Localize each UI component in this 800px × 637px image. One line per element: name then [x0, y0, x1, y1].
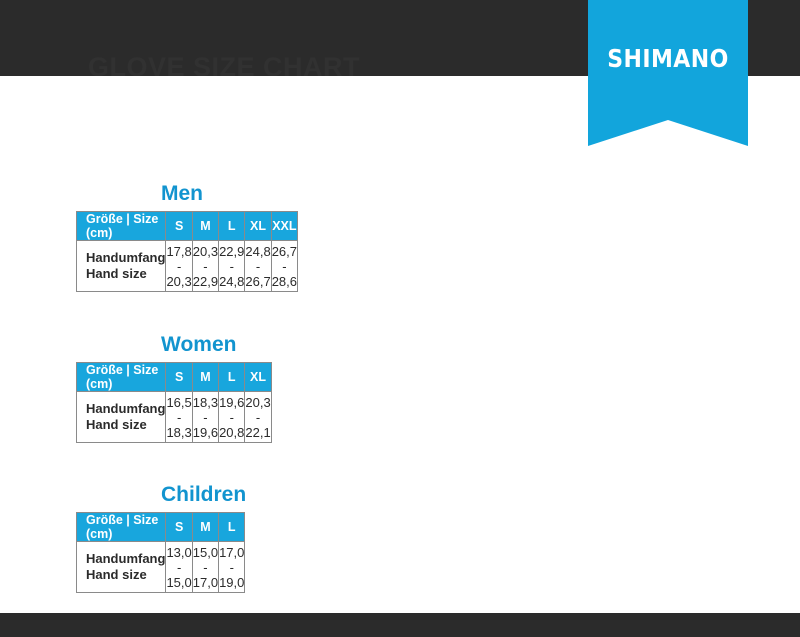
row-label-hand-size: HandumfangHand size [77, 392, 166, 443]
hand-size-value: 20,3 - 22,9 [192, 241, 218, 292]
section-title: Women [161, 333, 236, 357]
hand-size-value: 16,5 - 18,3 [166, 392, 192, 443]
column-header-size: S [166, 363, 192, 392]
column-header-size: XXL [271, 212, 297, 241]
hand-size-value: 13,0 - 15,0 [166, 542, 192, 593]
column-header-size: S [166, 212, 192, 241]
shimano-brand-ribbon: SHIMANO [588, 0, 748, 146]
row-label-line-2: Hand size [86, 266, 165, 282]
row-label-line-1: Handumfang [86, 250, 165, 266]
column-header-size: M [192, 513, 218, 542]
hand-size-value: 17,8 - 20,3 [166, 241, 192, 292]
footer-band [0, 613, 800, 637]
page-title: GLOVE SIZE CHART [88, 52, 360, 76]
hand-size-value: 26,7 - 28,6 [271, 241, 297, 292]
column-header-size: L [219, 212, 245, 241]
column-header-size-label: Größe | Size (cm) [77, 212, 166, 241]
ribbon-chevron-point [588, 120, 748, 146]
hand-size-value: 15,0 - 17,0 [192, 542, 218, 593]
column-header-size: L [219, 363, 245, 392]
row-label-hand-size: HandumfangHand size [77, 542, 166, 593]
column-header-size: L [219, 513, 245, 542]
hand-size-value: 24,8 - 26,7 [245, 241, 271, 292]
table-row: HandumfangHand size17,8 - 20,320,3 - 22,… [77, 241, 298, 292]
table-header-row: Größe | Size (cm)SMLXLXXL [77, 212, 298, 241]
section-title: Men [161, 182, 203, 206]
hand-size-value: 19,6 - 20,8 [219, 392, 245, 443]
table-header-row: Größe | Size (cm)SMLXL [77, 363, 272, 392]
column-header-size: S [166, 513, 192, 542]
hand-size-value: 17,0 - 19,0 [219, 542, 245, 593]
section-title: Children [161, 483, 246, 507]
hand-size-value: 18,3 - 19,6 [192, 392, 218, 443]
hand-size-value: 20,3 - 22,1 [245, 392, 271, 443]
table-row: HandumfangHand size16,5 - 18,318,3 - 19,… [77, 392, 272, 443]
size-table: Größe | Size (cm)SMLXLHandumfangHand siz… [76, 362, 272, 443]
size-table: Größe | Size (cm)SMLHandumfangHand size1… [76, 512, 245, 593]
shimano-logo: SHIMANO [598, 44, 739, 73]
column-header-size: XL [245, 212, 271, 241]
row-label-line-2: Hand size [86, 417, 165, 433]
row-label-line-1: Handumfang [86, 551, 165, 567]
table-header-row: Größe | Size (cm)SML [77, 513, 245, 542]
row-label-line-2: Hand size [86, 567, 165, 583]
row-label-line-1: Handumfang [86, 401, 165, 417]
column-header-size: M [192, 212, 218, 241]
column-header-size: M [192, 363, 218, 392]
row-label-hand-size: HandumfangHand size [77, 241, 166, 292]
table-row: HandumfangHand size13,0 - 15,015,0 - 17,… [77, 542, 245, 593]
hand-size-value: 22,9 - 24,8 [219, 241, 245, 292]
column-header-size: XL [245, 363, 271, 392]
column-header-size-label: Größe | Size (cm) [77, 513, 166, 542]
column-header-size-label: Größe | Size (cm) [77, 363, 166, 392]
size-table: Größe | Size (cm)SMLXLXXLHandumfangHand … [76, 211, 298, 292]
